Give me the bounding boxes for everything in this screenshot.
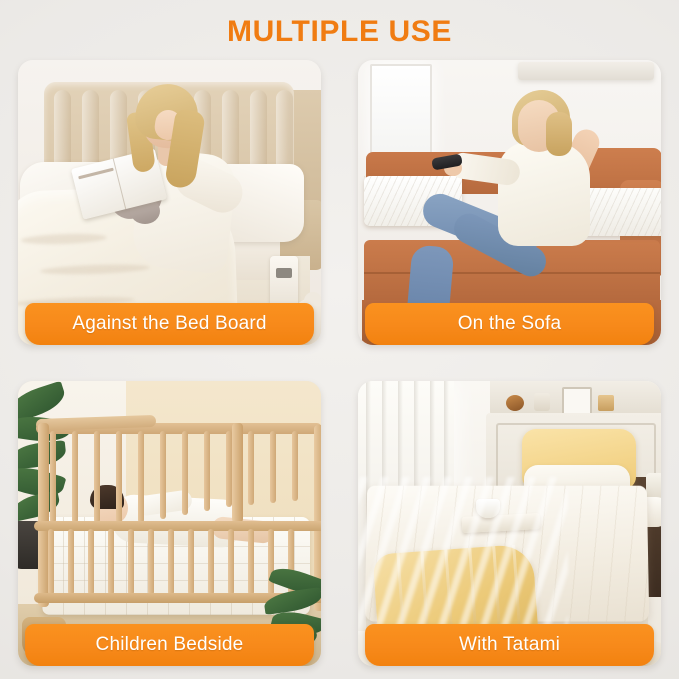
coffee-cup [476, 499, 500, 518]
use-case-card-children-bedside[interactable]: Children Bedside [18, 381, 321, 666]
caption-label: On the Sofa [458, 313, 562, 335]
decor-box [598, 395, 614, 411]
caption-label: Against the Bed Board [72, 313, 266, 335]
window [370, 64, 432, 160]
page-title: MULTIPLE USE [227, 15, 452, 49]
caption-banner-on-the-sofa[interactable]: On the Sofa [365, 303, 654, 345]
decor-ball [506, 395, 524, 411]
caption-banner-children-bedside[interactable]: Children Bedside [25, 624, 314, 666]
caption-banner-with-tatami[interactable]: With Tatami [365, 624, 654, 666]
caption-label: With Tatami [459, 634, 560, 656]
page-title-container: MULTIPLE USE [0, 10, 679, 54]
sofa-seam [364, 272, 660, 274]
use-case-grid: Against the Bed Board [18, 60, 661, 666]
bed-remote-panel [270, 256, 298, 308]
wall-shelf [518, 62, 654, 80]
decor-vase [534, 393, 550, 411]
use-case-card-on-the-sofa[interactable]: On the Sofa [358, 60, 661, 345]
promo-infographic: MULTIPLE USE [0, 0, 679, 679]
hair-strand [546, 112, 572, 156]
caption-label: Children Bedside [96, 634, 244, 656]
use-case-card-against-the-bed-board[interactable]: Against the Bed Board [18, 60, 321, 345]
woman-tshirt [498, 142, 590, 246]
potted-plant-left [18, 383, 98, 533]
crib-front-top-rail [34, 521, 321, 531]
caption-banner-against-the-bed-board[interactable]: Against the Bed Board [25, 303, 314, 345]
use-case-card-with-tatami[interactable]: With Tatami [358, 381, 661, 666]
